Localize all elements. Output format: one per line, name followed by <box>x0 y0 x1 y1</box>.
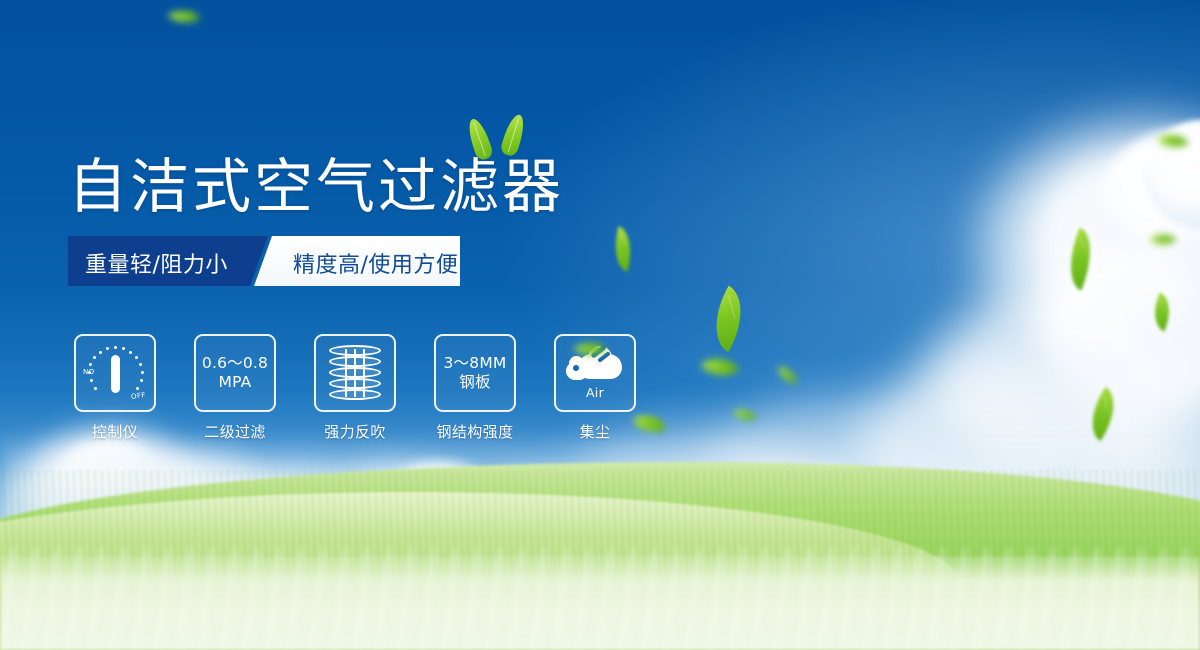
feature-icon-box: 3～8MM 钢板 <box>434 334 516 412</box>
feature-label: 集尘 <box>580 421 611 442</box>
feature-item-control-instrument[interactable]: NO OFF 控制仪 <box>68 334 162 442</box>
subtitle-left-segment: 重量轻/阻力小 <box>68 236 268 286</box>
pressure-value-line2: MPA <box>219 373 252 392</box>
subtitle-bar: 重量轻/阻力小 精度高/使用方便 <box>68 236 460 286</box>
product-banner: 自洁式空气过滤器 重量轻/阻力小 精度高/使用方便 <box>0 0 1200 650</box>
subtitle-right-segment: 精度高/使用方便 <box>254 236 460 286</box>
feature-icon-box <box>314 334 396 412</box>
feature-icon-box: 0.6～0.8 MPA <box>194 334 276 412</box>
air-label: Air <box>586 385 604 400</box>
meadow-streaks <box>0 548 1200 650</box>
feature-label: 控制仪 <box>92 421 138 442</box>
gauge-no-label: NO <box>83 368 95 376</box>
pressure-value-line1: 0.6～0.8 <box>202 354 268 373</box>
feature-item-two-stage-filtration[interactable]: 0.6～0.8 MPA 二级过滤 <box>188 334 282 442</box>
filter-coil-icon <box>329 345 381 401</box>
steel-value-line1: 3～8MM <box>444 354 507 373</box>
subtitle-left-text: 重量轻/阻力小 <box>85 247 228 279</box>
feature-item-steel-structure-strength[interactable]: 3～8MM 钢板 钢结构强度 <box>428 334 522 442</box>
gauge-off-label: OFF <box>131 391 147 401</box>
feature-item-powerful-blowback[interactable]: 强力反吹 <box>308 334 402 442</box>
gauge-icon: NO OFF <box>84 343 146 403</box>
gauge-needle <box>111 355 120 393</box>
feature-label: 二级过滤 <box>204 421 266 442</box>
feature-list: NO OFF 控制仪 0.6～0.8 MPA 二级过滤 <box>68 334 642 442</box>
feature-label: 钢结构强度 <box>436 421 513 442</box>
page-title: 自洁式空气过滤器 <box>68 139 564 224</box>
feature-icon-box: NO OFF <box>74 334 156 412</box>
subtitle-right-text: 精度高/使用方便 <box>293 247 458 279</box>
feature-label: 强力反吹 <box>324 421 386 442</box>
steel-value-line2: 钢板 <box>459 373 490 392</box>
